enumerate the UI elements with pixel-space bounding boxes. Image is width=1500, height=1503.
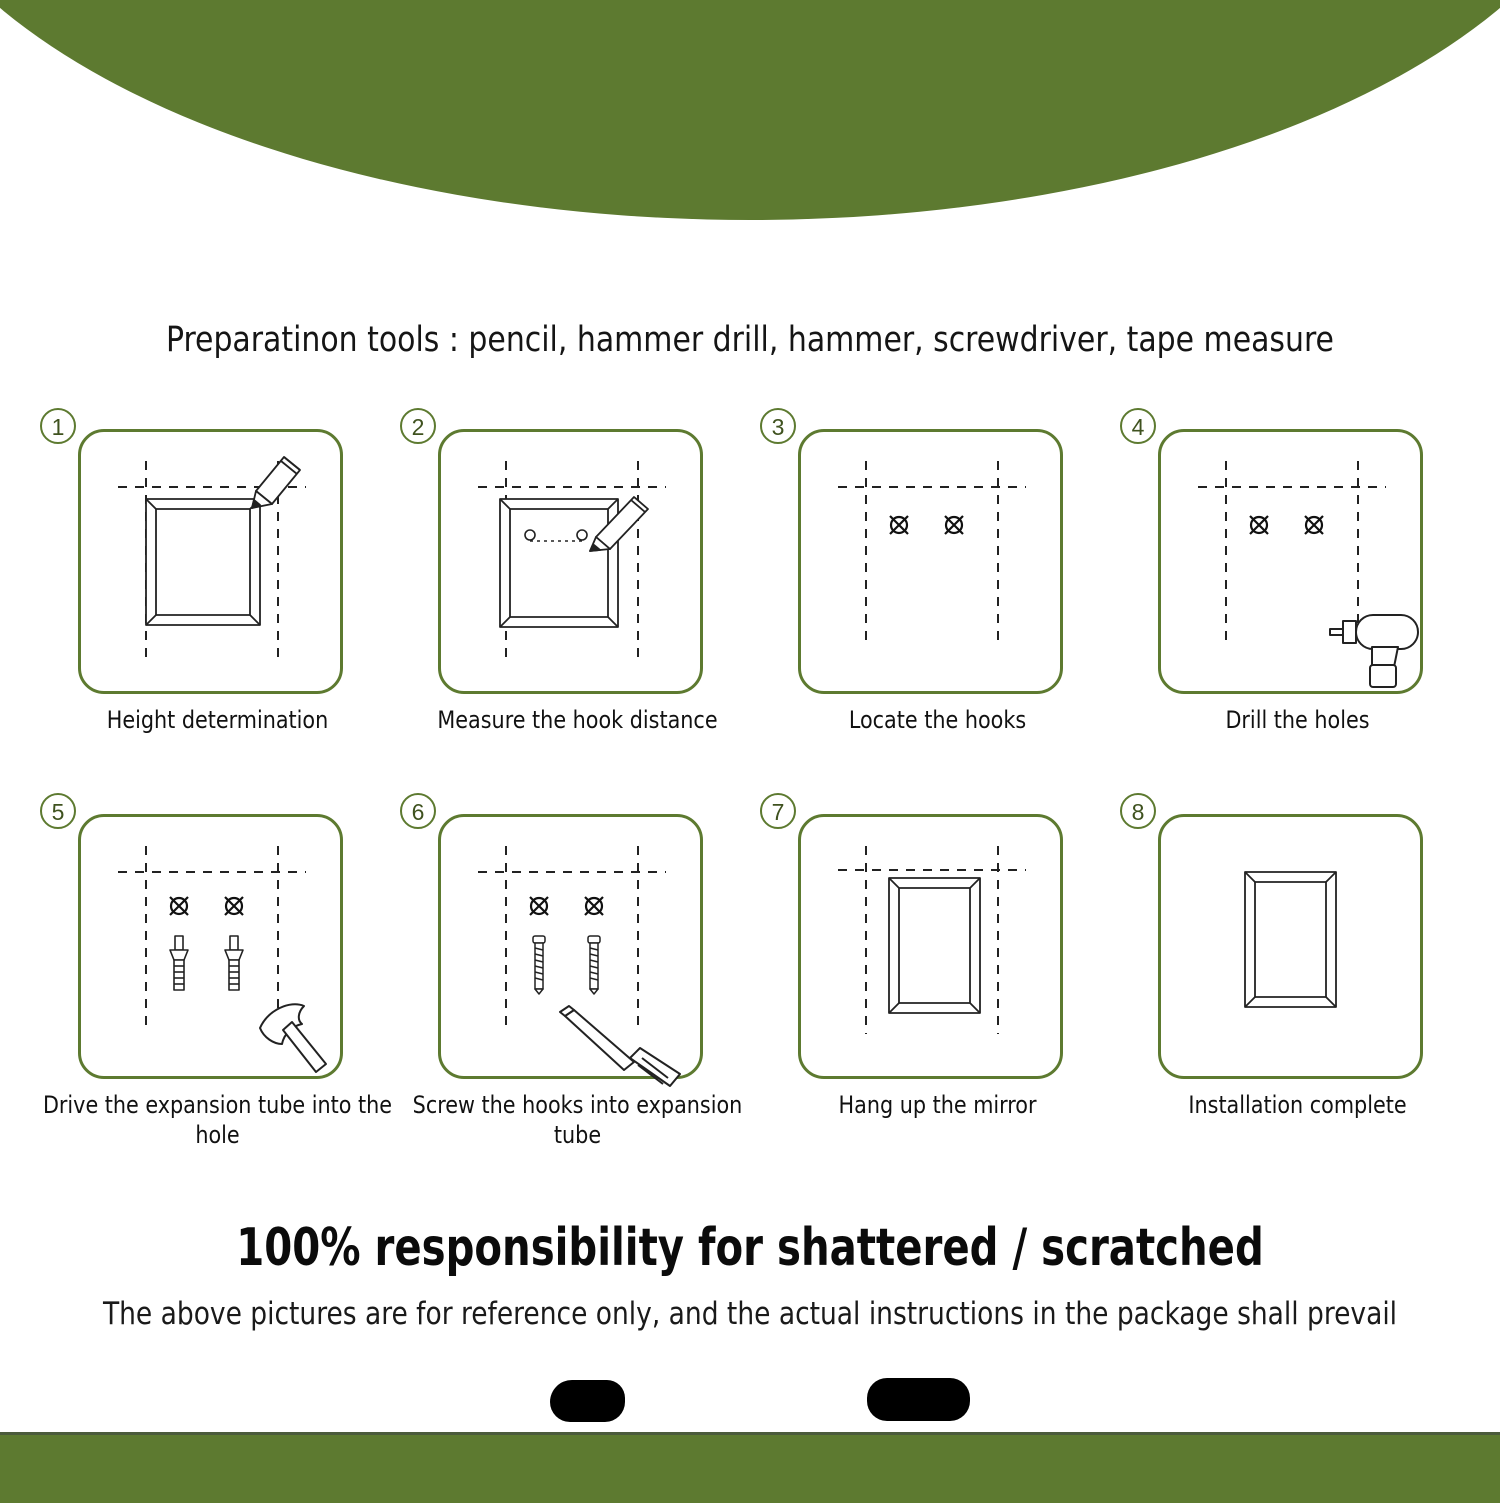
hook-mark-icon (530, 897, 603, 915)
step-7: 7 Hang up the mirror (750, 790, 1125, 1175)
hook-mark-icon (890, 516, 963, 534)
step-1-illustration (78, 429, 343, 694)
step-6: 6 (390, 790, 765, 1175)
step-5: 5 (30, 790, 405, 1175)
step-caption: Drill the holes (1118, 705, 1478, 735)
step-number-badge: 7 (760, 793, 796, 829)
hammer-icon (260, 1004, 326, 1072)
step-number-badge: 4 (1120, 408, 1156, 444)
disclaimer-text: The above pictures are for reference onl… (38, 1296, 1463, 1332)
step-4: 4 Dril (1110, 405, 1485, 790)
screwdriver-icon (560, 1006, 680, 1086)
responsibility-statement: 100% responsibility for shattered / scra… (105, 1218, 1395, 1278)
mirror-frame-icon (889, 878, 980, 1013)
mirror-frame-icon (500, 499, 618, 627)
step-caption: Locate the hooks (758, 705, 1118, 735)
drill-icon (1330, 615, 1418, 687)
step-4-illustration (1158, 429, 1423, 694)
redaction-block-left (550, 1380, 625, 1422)
step-number-badge: 2 (400, 408, 436, 444)
steps-grid: 1 (0, 405, 1500, 1195)
expansion-anchor-icon (170, 936, 243, 990)
step-caption: Height determination (38, 705, 398, 735)
step-2-illustration (438, 429, 703, 694)
redaction-block-right (867, 1378, 970, 1421)
hook-mark-icon (1250, 516, 1323, 534)
step-caption: Drive the expansion tube into the hole (38, 1090, 398, 1150)
preparation-tools-text: Preparatinon tools : pencil, hammer dril… (38, 320, 1463, 360)
footer-bar (0, 1432, 1500, 1503)
step-3: 3 Locate the hooks (750, 405, 1125, 790)
step-5-illustration (78, 814, 343, 1079)
step-number-badge: 8 (1120, 793, 1156, 829)
step-8: 8 Installation complete (1110, 790, 1485, 1175)
screw-icon (533, 936, 600, 994)
step-caption: Measure the hook distance (398, 705, 758, 735)
step-7-illustration (798, 814, 1063, 1079)
step-number-badge: 5 (40, 793, 76, 829)
step-6-illustration (438, 814, 703, 1079)
step-3-illustration (798, 429, 1063, 694)
step-caption: Installation complete (1118, 1090, 1478, 1120)
pencil-icon (252, 457, 300, 508)
step-2: 2 (390, 405, 765, 790)
step-caption: Screw the hooks into expansion tube (398, 1090, 758, 1150)
step-number-badge: 6 (400, 793, 436, 829)
step-number-badge: 1 (40, 408, 76, 444)
mirror-frame-icon (146, 499, 260, 625)
step-caption: Hang up the mirror (758, 1090, 1118, 1120)
header-title-container: Installation Indication (0, 30, 1500, 200)
step-8-illustration (1158, 814, 1423, 1079)
step-number-badge: 3 (760, 408, 796, 444)
hook-mark-icon (170, 897, 243, 915)
mirror-frame-icon (1245, 872, 1336, 1007)
step-1: 1 (30, 405, 405, 790)
